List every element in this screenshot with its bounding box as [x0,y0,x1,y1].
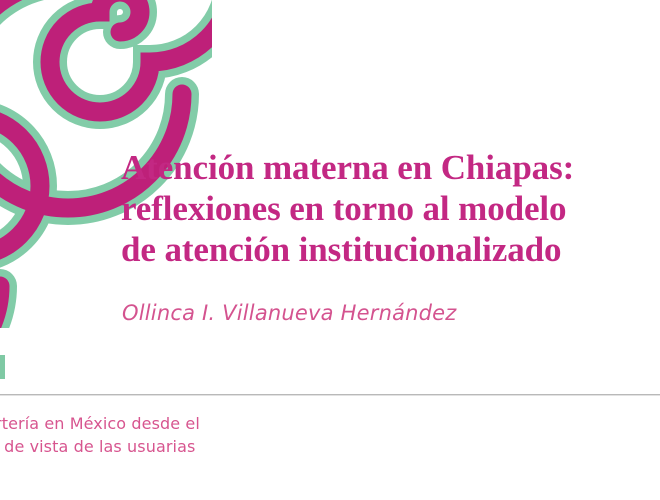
running-head-line-2: punto de vista de las usuarias [0,435,372,458]
title-line-3: de atención institucionalizado [121,229,655,270]
page-title: Atención materna en Chiapas: reflexiones… [121,147,655,270]
title-line-2: reflexiones en torno al modelo [121,188,655,229]
horizontal-divider [0,394,660,396]
author-name: Ollinca I. Villanueva Hernández [122,299,457,327]
running-head: La Partería en México desde el punto de … [0,412,372,458]
green-accent-bar [0,355,5,379]
title-line-1: Atención materna en Chiapas: [121,147,655,188]
cover-page: Atención materna en Chiapas: reflexiones… [0,0,660,500]
running-head-line-1: La Partería en México desde el [0,412,372,435]
